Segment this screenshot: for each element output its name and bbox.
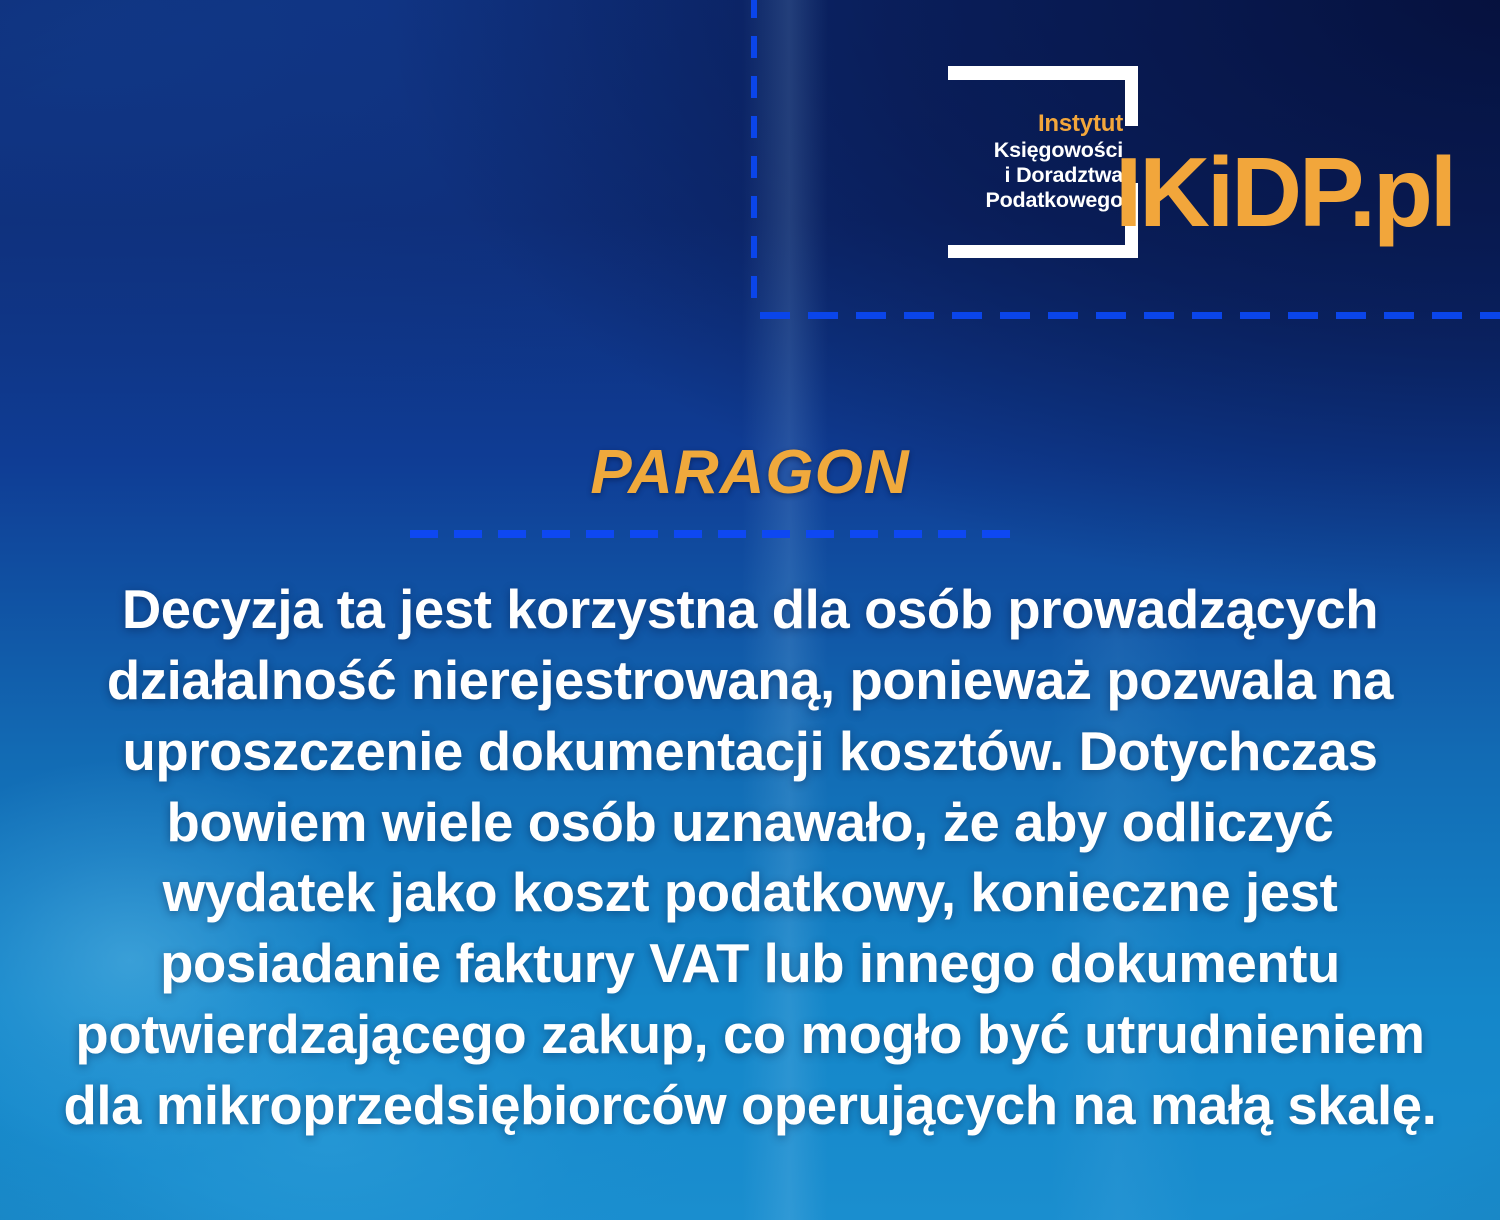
body-paragraph: Decyzja ta jest korzystna dla osób prowa…	[60, 575, 1440, 1142]
institute-line-2: Księgowości	[958, 138, 1123, 163]
brand-wordmark: IKiDP.pl	[1115, 143, 1454, 241]
institute-line-1: Instytut	[958, 110, 1123, 138]
dashed-horizontal-rule-title	[410, 530, 1020, 538]
page-title: PARAGON	[0, 437, 1500, 508]
institute-line-3: i Doradztwa	[958, 163, 1123, 188]
institute-line-4: Podatkowego	[958, 188, 1123, 213]
dashed-horizontal-rule-header	[760, 312, 1500, 319]
brand-logo: Instytut Księgowości i Doradztwa Podatko…	[940, 55, 1440, 270]
institute-name-block: Instytut Księgowości i Doradztwa Podatko…	[958, 110, 1123, 214]
dashed-vertical-rule	[751, 0, 757, 312]
bracket-right-upper-bar	[1125, 66, 1138, 126]
bracket-bottom-bar	[948, 245, 1138, 258]
bracket-top-bar	[948, 66, 1138, 80]
poster-canvas: Instytut Księgowości i Doradztwa Podatko…	[0, 0, 1500, 1220]
